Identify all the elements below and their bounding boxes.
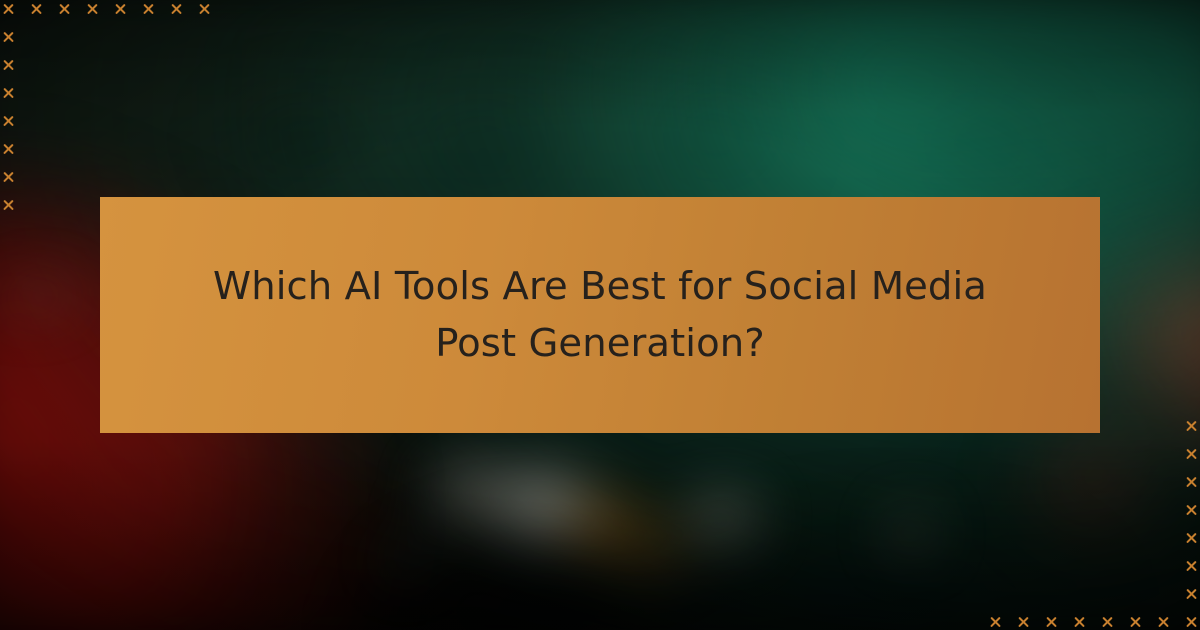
page-title: Which AI Tools Are Best for Social Media… xyxy=(200,258,1000,373)
title-card-panel: Which AI Tools Are Best for Social Media… xyxy=(100,197,1100,433)
og-image-card: Which AI Tools Are Best for Social Media… xyxy=(0,0,1200,630)
